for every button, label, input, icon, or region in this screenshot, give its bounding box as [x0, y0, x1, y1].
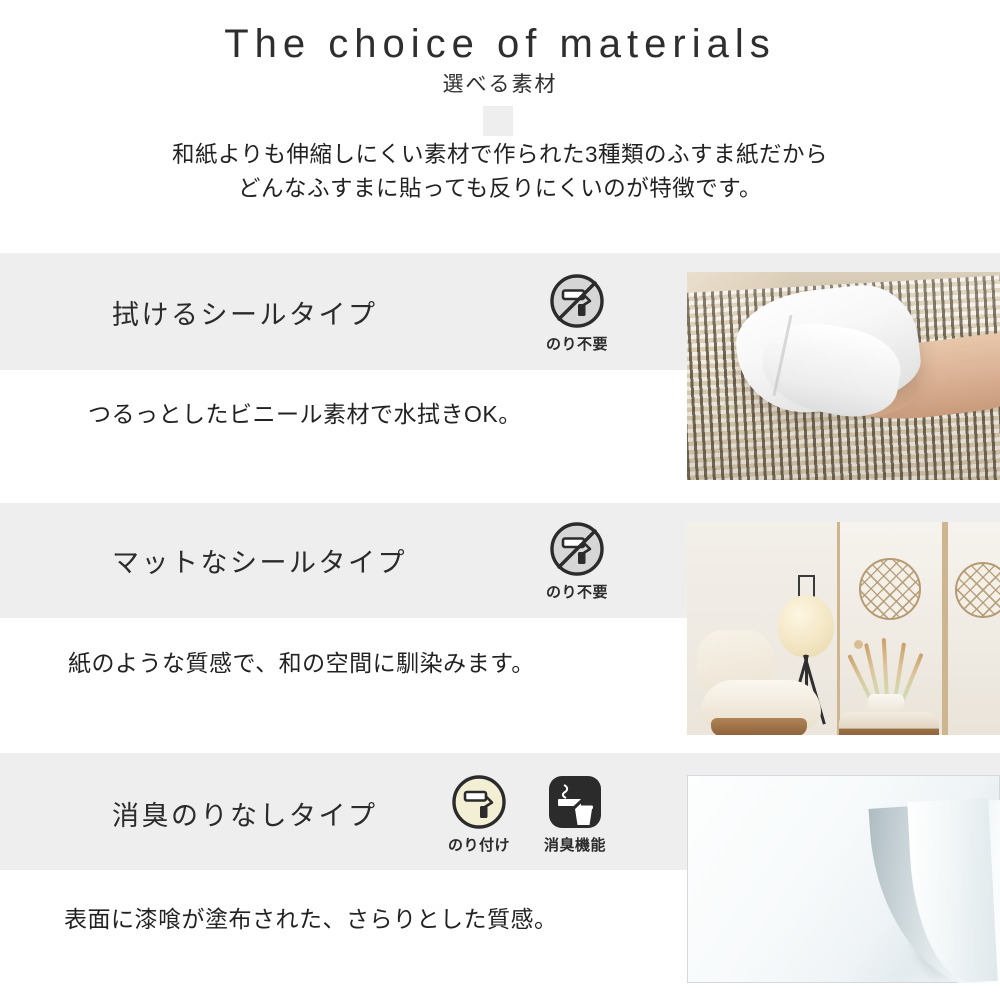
badge-deodorize: 消臭機能: [536, 774, 614, 855]
photo-2-door-knob: [854, 640, 863, 649]
no-glue-roller-icon: [549, 273, 605, 329]
section-2-badges: のり不要: [538, 521, 616, 602]
lead-paragraph: 和紙よりも伸縮しにくい素材で作られた3種類のふすま紙だから どんなふすまに貼って…: [0, 138, 1000, 206]
section-1-title: 拭けるシールタイプ: [112, 293, 378, 332]
badge-no-glue: のり不要: [538, 273, 616, 354]
photo-2-paper-lantern: [778, 595, 834, 657]
badge-no-glue-label: のり不要: [546, 581, 608, 602]
japanese-interior-photo: [687, 522, 1000, 735]
photo-2-chair-base: [711, 718, 807, 735]
badge-glue-label: のり付け: [448, 834, 510, 855]
section-1-badges: のり不要: [538, 273, 616, 354]
section-3-badges: のり付け 消臭機能: [440, 774, 614, 855]
wiping-woven-surface-photo: [687, 272, 1000, 480]
badge-no-glue: のり不要: [538, 521, 616, 602]
photo-2-fusuma-panel-2: [945, 522, 1000, 735]
badge-deodorize-label: 消臭機能: [544, 834, 606, 855]
photo-2-lattice-circle-1: [859, 558, 921, 620]
section-2-title: マットなシールタイプ: [112, 541, 407, 580]
product-material-page: The choice of materials 選べる素材 和紙よりも伸縮しにく…: [0, 0, 1000, 1000]
lead-line-2: どんなふすまに貼っても反りにくいのが特徴です。: [0, 172, 1000, 206]
photo-2-side-table: [839, 712, 939, 735]
section-1-description: つるっとしたビニール素材で水拭きOK。: [88, 395, 522, 429]
glue-roller-icon: [451, 774, 507, 830]
page-subtitle: 選べる素材: [0, 68, 1000, 98]
section-3-description: 表面に漆喰が塗布された、さらりとした質感。: [64, 900, 558, 934]
section-2-description: 紙のような質感で、和の空間に馴染みます。: [68, 644, 535, 678]
decorative-square-divider: [483, 106, 513, 136]
lead-line-1: 和紙よりも伸縮しにくい素材で作られた3種類のふすま紙だから: [0, 138, 1000, 172]
white-paper-curl-photo: [687, 775, 1000, 983]
badge-no-glue-label: のり不要: [546, 333, 608, 354]
section-3-title: 消臭のりなしタイプ: [112, 794, 378, 833]
page-title: The choice of materials: [0, 22, 1000, 67]
badge-glue: のり付け: [440, 774, 518, 855]
no-glue-roller-icon: [549, 521, 605, 577]
deodorize-icon: [547, 774, 603, 830]
